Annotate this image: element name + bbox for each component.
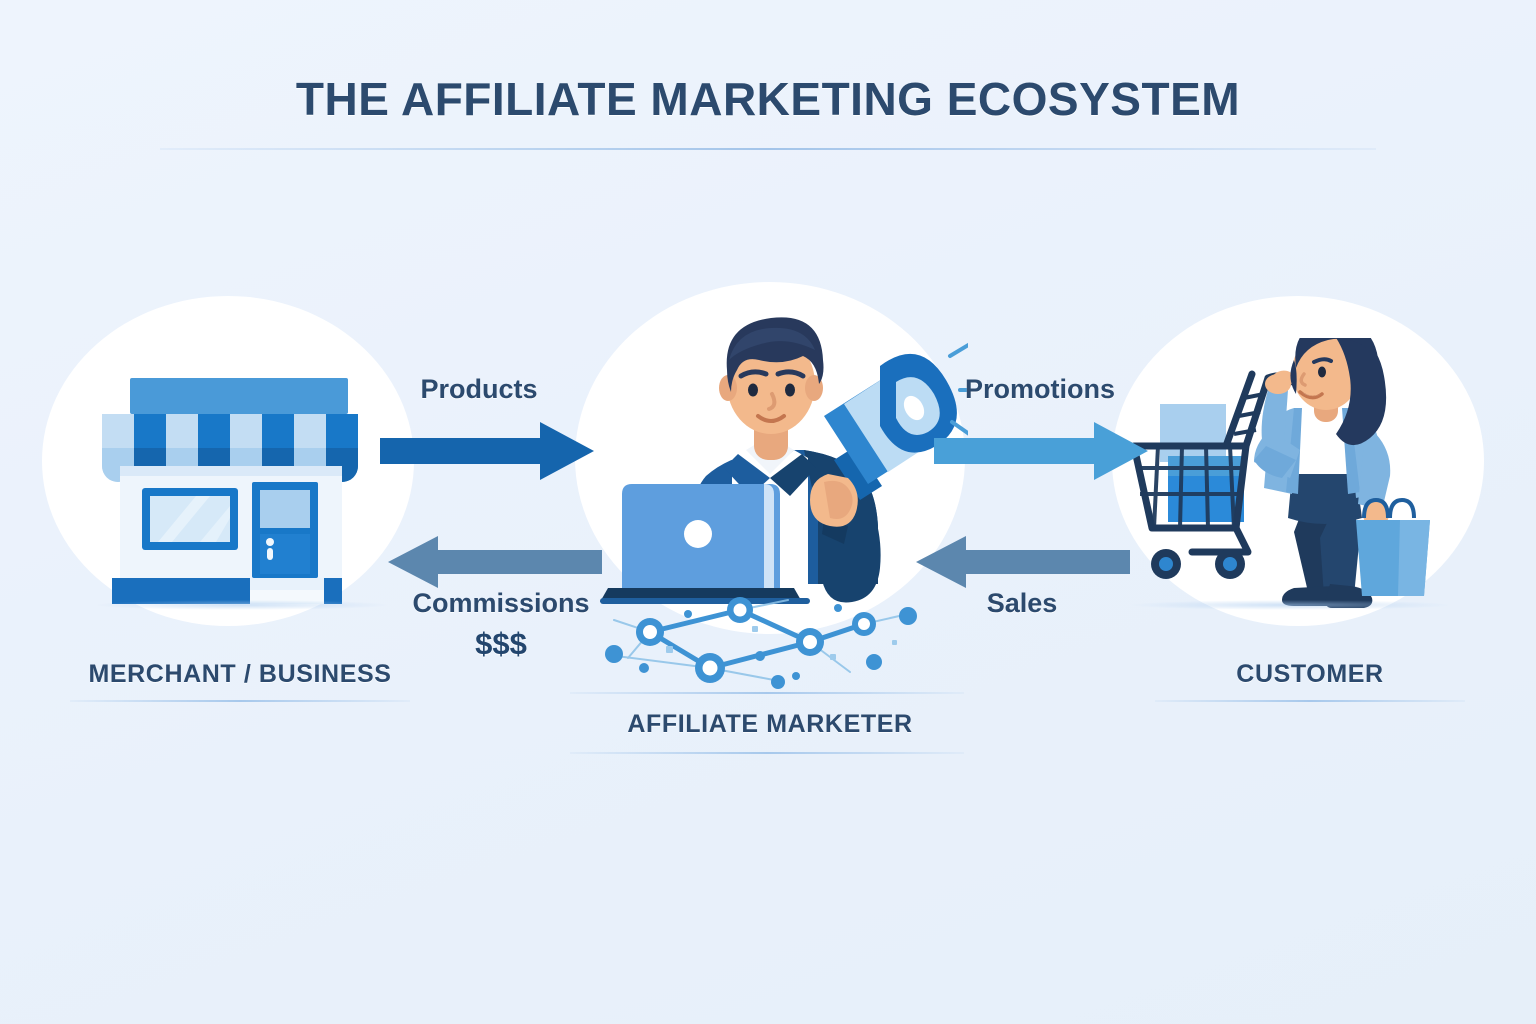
merchant-caption-rule — [70, 700, 410, 702]
storefront-icon — [80, 378, 400, 638]
affiliate-caption: AFFILIATE MARKETER — [560, 710, 980, 739]
shopper-with-cart-icon — [1118, 338, 1478, 638]
customer-caption: CUSTOMER — [1140, 660, 1480, 689]
merchant-ground-shadow — [96, 600, 386, 610]
promotions-arrow-right — [934, 420, 1154, 482]
commissions-arrow-left — [382, 534, 602, 590]
title-divider — [160, 148, 1376, 150]
merchant-caption: MERCHANT / BUSINESS — [40, 660, 440, 689]
flow-label-commissions-amount: $$$ — [386, 626, 616, 662]
flow-label-promotions: Promotions — [920, 374, 1160, 405]
page-title: THE AFFILIATE MARKETING ECOSYSTEM — [0, 72, 1536, 126]
customer-ground-shadow — [1130, 600, 1450, 610]
affiliate-caption-rule-bottom — [570, 752, 964, 754]
flow-label-products: Products — [364, 374, 594, 405]
infographic-canvas: THE AFFILIATE MARKETING ECOSYSTEM — [0, 0, 1536, 1024]
sales-arrow-left — [910, 534, 1130, 590]
affiliate-caption-rule-top — [570, 692, 964, 694]
customer-caption-rule — [1155, 700, 1465, 702]
flow-label-sales: Sales — [922, 588, 1122, 619]
network-nodes-graphic — [592, 580, 932, 690]
flow-label-commissions: Commissions — [386, 588, 616, 619]
products-arrow-right — [380, 420, 600, 482]
